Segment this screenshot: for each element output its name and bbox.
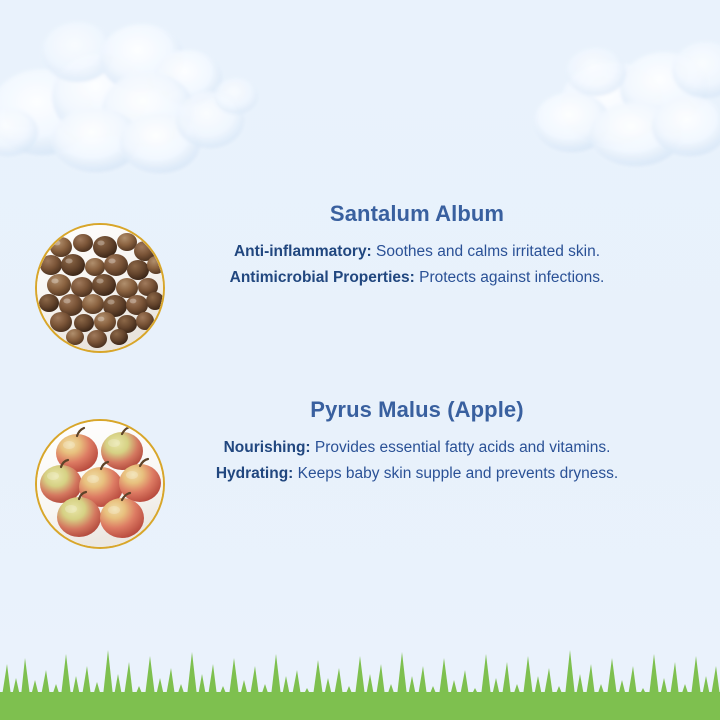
ingredient-row-santalum-album: Santalum Album Anti-inflammatory: Soothe… [0,200,720,351]
thumb-wrap-pyrus [0,396,200,547]
cloud-right [534,42,720,166]
thumb-wrap-santalum [0,200,200,351]
ingredient-image-apples [37,421,163,547]
benefit-text-nourishing: Provides essential fatty acids and vitam… [311,439,611,456]
benefit-line-hydrating: Hydrating: Keeps baby skin supple and pr… [200,461,634,487]
benefit-line-nourishing: Nourishing: Provides essential fatty aci… [200,435,634,461]
benefit-text-hydrating: Keeps baby skin supple and prevents dryn… [293,465,618,482]
ingredient-text-pyrus: Pyrus Malus (Apple) Nourishing: Provides… [200,396,720,487]
benefit-label-antimicrobial: Antimicrobial Properties: [230,269,415,286]
ingredient-title-pyrus-malus: Pyrus Malus (Apple) [200,396,634,424]
benefit-line-antimicrobial: Antimicrobial Properties: Protects again… [200,265,634,291]
cloud-left [0,22,258,173]
benefit-label-nourishing: Nourishing: [224,439,311,456]
grass-decoration-layer [0,640,720,720]
apples-photo [37,421,163,547]
ingredient-row-pyrus-malus: Pyrus Malus (Apple) Nourishing: Provides… [0,396,720,547]
ingredient-text-santalum: Santalum Album Anti-inflammatory: Soothe… [200,200,720,291]
ingredient-title-santalum-album: Santalum Album [200,200,634,228]
sandalwood-seeds-photo [37,225,163,351]
benefit-text-antimicrobial: Protects against infections. [415,269,605,286]
benefit-label-hydrating: Hydrating: [216,465,294,482]
benefit-text-anti-inflammatory: Soothes and calms irritated skin. [372,243,600,260]
cloud-decoration-layer [0,0,720,190]
benefit-line-anti-inflammatory: Anti-inflammatory: Soothes and calms irr… [200,239,634,265]
ingredients-infographic: Santalum Album Anti-inflammatory: Soothe… [0,0,720,720]
ingredient-image-sandalwood-seeds [37,225,163,351]
benefit-label-anti-inflammatory: Anti-inflammatory: [234,243,372,260]
